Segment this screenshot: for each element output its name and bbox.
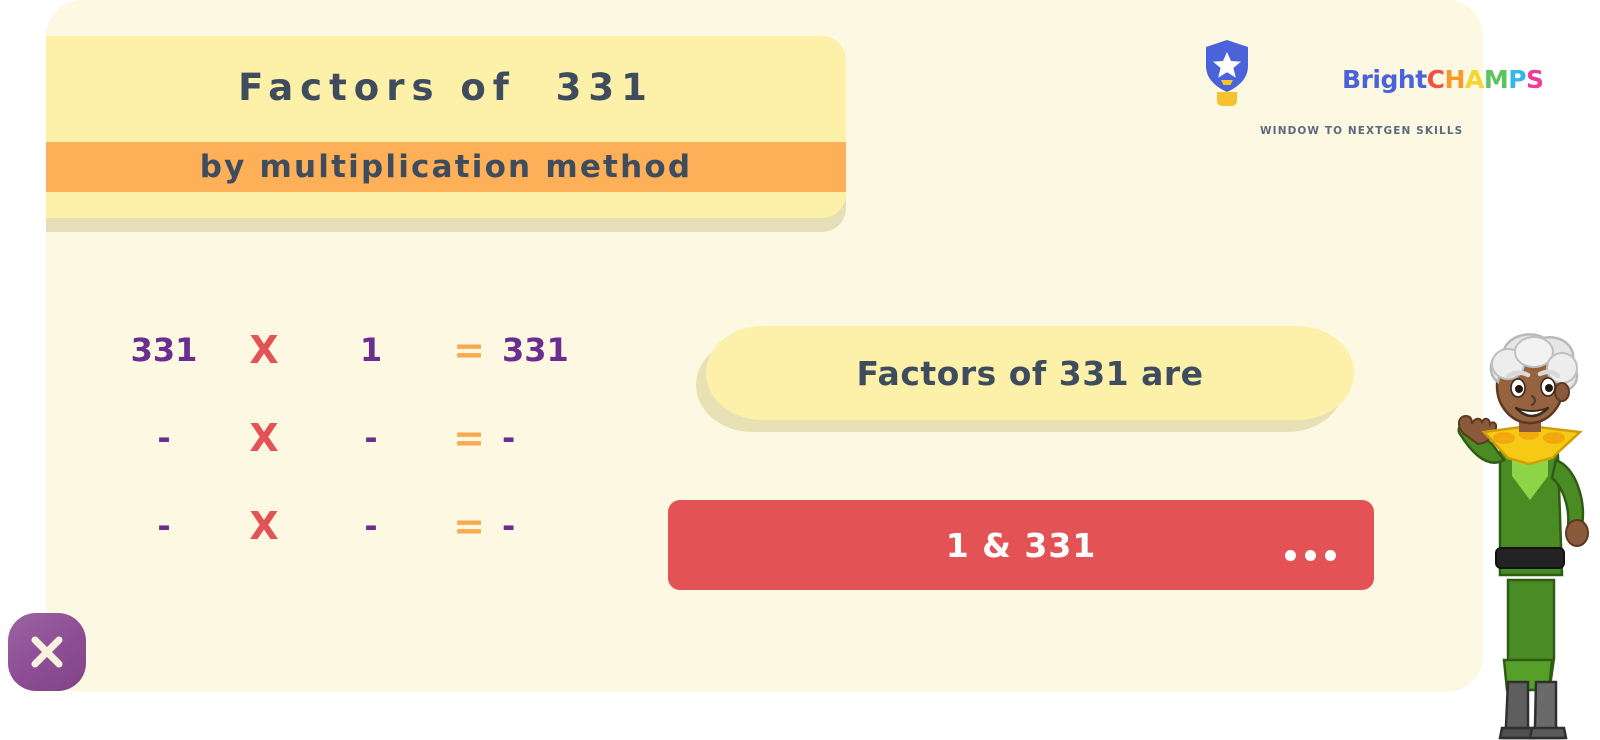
screen-root: Factors of 331 by multiplication method …: [0, 0, 1600, 740]
factor-b-3: -: [316, 504, 426, 548]
answer-pill-label: Factors of 331 are: [856, 354, 1203, 393]
logo-letter-a: A: [1465, 65, 1484, 94]
product-1: 331: [502, 328, 612, 372]
answer-bar-value: 1 & 331: [668, 500, 1374, 590]
product-3: -: [502, 504, 612, 548]
factor-b-2: -: [316, 416, 426, 460]
equals-icon: =: [446, 504, 492, 548]
equals-icon: =: [446, 416, 492, 460]
times-icon: X: [236, 504, 292, 548]
equation-row: - X - = -: [106, 416, 666, 504]
header-subtitle-strip: by multiplication method: [46, 142, 846, 192]
ellipsis-icon[interactable]: [1285, 550, 1336, 561]
equation-list: 331 X 1 = 331 - X - = - - X - = -: [106, 328, 666, 592]
page-title: Factors of 331: [46, 66, 846, 109]
header-banner: Factors of 331 by multiplication method: [46, 36, 846, 222]
header-banner-body: Factors of 331 by multiplication method: [46, 36, 846, 218]
logo-text: BrightCHAMPS WINDOW TO NEXTGEN SKILLS: [1260, 38, 1544, 138]
logo-bright: Bright: [1342, 65, 1427, 94]
times-icon: X: [236, 328, 292, 372]
logo-letter-m: M: [1484, 65, 1508, 94]
times-icon: X: [236, 416, 292, 460]
close-button[interactable]: [8, 613, 86, 691]
answer-pill-body: Factors of 331 are: [706, 326, 1354, 420]
logo-letter-s: S: [1526, 65, 1544, 94]
equals-icon: =: [446, 328, 492, 372]
product-2: -: [502, 416, 612, 460]
page-subtitle: by multiplication method: [200, 149, 692, 185]
teacher-character-illustration: [1412, 330, 1600, 740]
logo-wordmark: BrightCHAMPS: [1260, 38, 1544, 122]
brightchamps-logo: BrightCHAMPS WINDOW TO NEXTGEN SKILLS: [1204, 36, 1466, 96]
logo-tagline: WINDOW TO NEXTGEN SKILLS: [1260, 124, 1544, 138]
factor-a-2: -: [106, 416, 222, 460]
equation-row: 331 X 1 = 331: [106, 328, 666, 416]
shield-star-icon: [1204, 39, 1250, 95]
factor-a-1: 331: [106, 328, 222, 372]
equation-row: - X - = -: [106, 504, 666, 592]
factor-b-1: 1: [316, 328, 426, 372]
logo-letter-h: H: [1445, 65, 1465, 94]
lesson-card: Factors of 331 by multiplication method …: [46, 0, 1483, 692]
factor-a-3: -: [106, 504, 222, 548]
answer-pill: Factors of 331 are: [696, 326, 1356, 434]
close-x-icon: [27, 632, 67, 672]
logo-letter-p: P: [1508, 65, 1526, 94]
logo-letter-c: C: [1427, 65, 1445, 94]
answer-bar[interactable]: 1 & 331: [668, 500, 1374, 590]
